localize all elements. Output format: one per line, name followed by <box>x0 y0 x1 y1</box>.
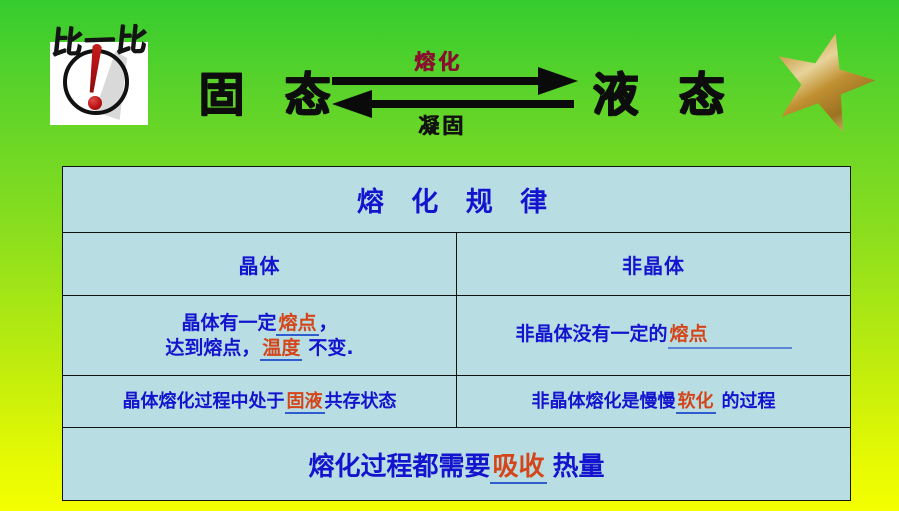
cell-heat-absorption: 熔化过程都需要吸收热量 <box>63 428 851 501</box>
table-title: 熔 化 规 律 <box>357 187 556 218</box>
arrow-left-head-icon <box>332 90 372 118</box>
table-row: 晶体有一定熔点， 达到熔点，温度不变. 非晶体没有一定的熔点 <box>63 296 851 376</box>
crystal-process-line: 晶体熔化过程中处于固液共存状态 <box>63 390 456 413</box>
slide-header: 比一比 固 态 熔化 凝固 液 态 <box>0 0 899 155</box>
amorphous-line-1: 非晶体没有一定的熔点 <box>457 322 850 349</box>
footer-post: 热量 <box>553 452 605 482</box>
table-title-row: 熔 化 规 律 <box>63 167 851 233</box>
column-header-crystal: 晶体 <box>63 233 457 296</box>
logo-caption: 比一比 <box>49 13 174 62</box>
column-header-crystal-label: 晶体 <box>239 254 281 278</box>
arrow-bottom-line <box>358 100 574 108</box>
column-header-amorphous-label: 非晶体 <box>622 254 685 278</box>
crystal-line2-blank: 温度 <box>260 337 302 361</box>
exclamation-dot-icon <box>88 96 102 110</box>
gold-star-icon <box>772 30 876 130</box>
cell-amorphous-process: 非晶体熔化是慢慢软化的过程 <box>457 376 851 428</box>
cell-amorphous-melting-point: 非晶体没有一定的熔点 <box>457 296 851 376</box>
footer-blank: 吸收 <box>490 452 546 484</box>
crystal-process-blank: 固液 <box>285 391 325 414</box>
amorphous-line1-pre: 非晶体没有一定的 <box>515 323 667 345</box>
cell-crystal-melting-point: 晶体有一定熔点， 达到熔点，温度不变. <box>63 296 457 376</box>
slide-canvas: 比一比 固 态 熔化 凝固 液 态 熔 化 规 律 晶体 <box>0 0 899 511</box>
crystal-line1-pre: 晶体有一定 <box>181 312 276 334</box>
amorphous-process-blank: 软化 <box>676 391 716 414</box>
crystal-line1-post: ， <box>319 312 338 334</box>
amorphous-process-post: 的过程 <box>722 391 776 412</box>
melting-rules-table: 熔 化 规 律 晶体 非晶体 晶体有一定熔点， 达到熔点，温度不变. 非晶体没有… <box>62 166 851 501</box>
column-header-amorphous: 非晶体 <box>457 233 851 296</box>
footer-pre: 熔化过程都需要 <box>308 452 490 482</box>
arrow-top-line <box>332 77 548 85</box>
table-footer-row: 熔化过程都需要吸收热量 <box>63 428 851 501</box>
compare-logo: 比一比 <box>50 20 160 125</box>
amorphous-process-pre: 非晶体熔化是慢慢 <box>532 391 676 412</box>
state-label-liquid: 液 态 <box>592 58 736 124</box>
cell-crystal-process: 晶体熔化过程中处于固液共存状态 <box>63 376 457 428</box>
amorphous-line1-blank: 熔点 <box>668 322 792 349</box>
star-shape <box>761 19 886 141</box>
amorphous-process-line: 非晶体熔化是慢慢软化的过程 <box>457 390 850 413</box>
arrow-right-head-icon <box>538 67 578 95</box>
crystal-line-1: 晶体有一定熔点， <box>63 311 456 336</box>
arrow-label-solidifying: 凝固 <box>418 110 466 140</box>
crystal-process-post: 共存状态 <box>325 391 397 412</box>
table-header-row: 晶体 非晶体 <box>63 233 851 296</box>
crystal-line-2: 达到熔点，温度不变. <box>63 336 456 361</box>
crystal-line2-post: 不变. <box>308 337 353 359</box>
arrow-label-melting: 熔化 <box>414 46 462 76</box>
table-title-cell: 熔 化 规 律 <box>63 167 851 233</box>
state-label-solid: 固 态 <box>198 58 342 124</box>
phase-change-arrow: 熔化 凝固 <box>332 66 580 118</box>
crystal-line2-pre: 达到熔点， <box>165 337 260 359</box>
crystal-process-pre: 晶体熔化过程中处于 <box>123 391 285 412</box>
crystal-line1-blank: 熔点 <box>276 312 318 336</box>
table-row: 晶体熔化过程中处于固液共存状态 非晶体熔化是慢慢软化的过程 <box>63 376 851 428</box>
